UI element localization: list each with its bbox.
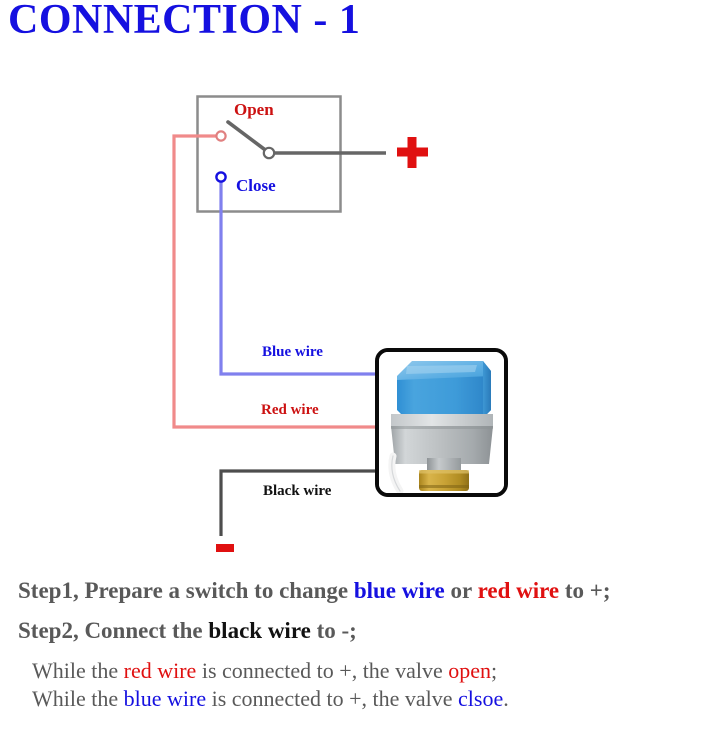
- valve-body-seam: [391, 426, 493, 429]
- note-1-prefix: While the: [32, 658, 124, 683]
- valve-nut-highlight: [419, 470, 469, 474]
- note-1-suffix: ;: [491, 658, 497, 683]
- switch-lever[interactable]: [228, 122, 268, 152]
- step-1-blue-wire: blue wire: [354, 578, 445, 603]
- step-2-suffix: to -;: [311, 618, 357, 643]
- note-2-middle: is connected to +, the valve: [206, 686, 458, 711]
- note-2-prefix: While the: [32, 686, 124, 711]
- open-label: Open: [234, 101, 274, 118]
- note-1-middle: is connected to +, the valve: [196, 658, 448, 683]
- wiring-schematic: [0, 0, 720, 575]
- red-wire-label: Red wire: [261, 403, 319, 418]
- black-wire-path: [221, 471, 377, 536]
- step-1-line: Step1, Prepare a switch to change blue w…: [18, 578, 718, 604]
- valve-cap-side: [483, 361, 491, 418]
- note-1-wire: red wire: [124, 658, 197, 683]
- step-2-line: Step2, Connect the black wire to -;: [18, 618, 718, 644]
- step-1-middle: or: [445, 578, 478, 603]
- step-2-black-wire: black wire: [208, 618, 310, 643]
- minus-symbol: [216, 544, 234, 552]
- step-1-red-wire: red wire: [478, 578, 560, 603]
- plus-symbol: [397, 137, 428, 168]
- note-2-line: While the blue wire is connected to +, t…: [18, 686, 718, 712]
- step-2-prefix: Step2, Connect the: [18, 618, 208, 643]
- instructions: Step1, Prepare a switch to change blue w…: [18, 578, 718, 714]
- close-terminal[interactable]: [216, 172, 225, 181]
- black-wire-label: Black wire: [263, 484, 331, 499]
- valve-collar: [391, 414, 493, 428]
- blue-wire-label: Blue wire: [262, 345, 323, 360]
- note-2-state: clsoe: [458, 686, 503, 711]
- valve-photo-frame: [375, 348, 508, 497]
- switch-pivot-contact[interactable]: [264, 148, 274, 158]
- note-2-wire: blue wire: [124, 686, 206, 711]
- valve-image: [379, 352, 504, 493]
- step-1-suffix: to +;: [559, 578, 610, 603]
- note-1-line: While the red wire is connected to +, th…: [18, 658, 718, 684]
- open-terminal[interactable]: [216, 131, 225, 140]
- note-2-suffix: .: [503, 686, 509, 711]
- valve-nut-shadow: [419, 485, 469, 488]
- valve-cap-front: [397, 376, 491, 418]
- close-label: Close: [236, 177, 276, 194]
- connection-diagram-page: CONNECTION - 1 Open Close Bl: [0, 0, 720, 730]
- step-1-prefix: Step1, Prepare a switch to change: [18, 578, 354, 603]
- note-1-state: open: [448, 658, 491, 683]
